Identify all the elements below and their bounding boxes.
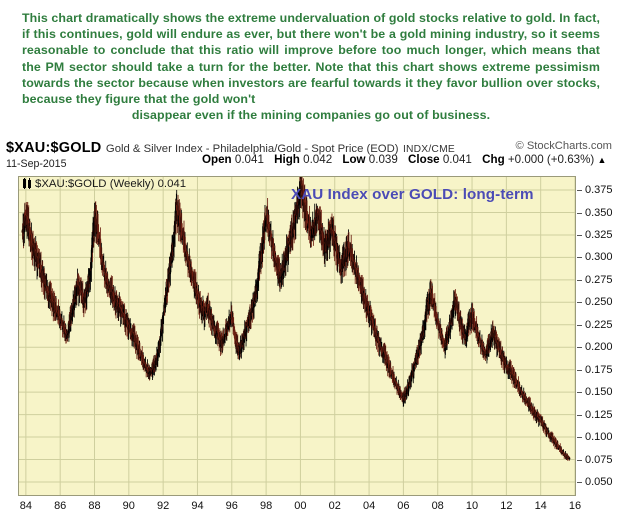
y-tick-label: 0.075 <box>585 454 613 466</box>
y-tick-label: 0.275 <box>585 274 613 286</box>
y-tick-label: 0.100 <box>585 431 613 443</box>
x-tick-label: 94 <box>191 500 203 512</box>
y-tick-label: 0.125 <box>585 409 613 421</box>
y-tick-label: 0.150 <box>585 386 613 398</box>
commentary-body: This chart dramatically shows the extrem… <box>22 11 600 106</box>
price-plot-area <box>18 176 576 496</box>
commentary-text: This chart dramatically shows the extrem… <box>22 10 600 123</box>
quote-date: 11-Sep-2015 <box>6 158 66 170</box>
commentary-last-line: disappear even if the mining companies g… <box>22 107 600 123</box>
x-tick-label: 90 <box>123 500 135 512</box>
x-tick-label: 02 <box>329 500 341 512</box>
y-tick-mark <box>577 437 582 438</box>
x-tick-label: 88 <box>88 500 100 512</box>
y-tick-label: 0.350 <box>585 207 613 219</box>
chg-label: Chg <box>482 153 505 166</box>
x-tick-label: 96 <box>226 500 238 512</box>
y-tick-mark <box>577 347 582 348</box>
chart-annotation-title: XAU Index over GOLD: long-term <box>291 186 534 203</box>
y-tick-label: 0.325 <box>585 229 613 241</box>
x-tick-label: 16 <box>569 500 581 512</box>
x-tick-label: 08 <box>432 500 444 512</box>
high-label: High <box>274 153 300 166</box>
y-tick-mark <box>577 257 582 258</box>
y-tick-mark <box>577 482 582 483</box>
y-tick-label: 0.250 <box>585 296 613 308</box>
ohlc-quote-row: Open 0.041 High 0.042 Low 0.039 Close 0.… <box>202 153 606 166</box>
y-tick-label: 0.225 <box>585 319 613 331</box>
series-label: $XAU:$GOLD (Weekly) 0.041 <box>22 178 186 190</box>
y-tick-mark <box>577 460 582 461</box>
open-label: Open <box>202 153 232 166</box>
y-tick-mark <box>577 392 582 393</box>
stockcharts-brand: © StockCharts.com <box>515 140 612 152</box>
candlestick-icon <box>22 178 32 189</box>
y-tick-mark <box>577 415 582 416</box>
low-label: Low <box>342 153 365 166</box>
open-value: 0.041 <box>235 153 264 166</box>
y-tick-mark <box>577 280 582 281</box>
y-tick-mark <box>577 213 582 214</box>
close-value: 0.041 <box>443 153 472 166</box>
series-label-text: $XAU:$GOLD (Weekly) 0.041 <box>35 178 186 190</box>
stockcharts-header: $XAU:$GOLD Gold & Silver Index - Philade… <box>0 139 620 171</box>
low-value: 0.039 <box>369 153 398 166</box>
x-tick-label: 04 <box>363 500 375 512</box>
x-tick-label: 84 <box>20 500 32 512</box>
x-tick-label: 86 <box>54 500 66 512</box>
x-tick-label: 10 <box>466 500 478 512</box>
y-tick-label: 0.300 <box>585 251 613 263</box>
y-tick-label: 0.375 <box>585 184 613 196</box>
header-row-quote: 11-Sep-2015 Open 0.041 High 0.042 Low 0.… <box>6 154 614 170</box>
y-tick-mark <box>577 325 582 326</box>
high-value: 0.042 <box>303 153 332 166</box>
y-tick-mark <box>577 190 582 191</box>
y-tick-mark <box>577 235 582 236</box>
x-tick-label: 14 <box>535 500 547 512</box>
y-tick-label: 0.200 <box>585 341 613 353</box>
chg-up-arrow-icon: ▲ <box>598 155 607 165</box>
y-tick-label: 0.050 <box>585 476 613 488</box>
y-axis: 0.3750.3500.3250.3000.2750.2500.2250.200… <box>577 176 620 496</box>
y-tick-mark <box>577 370 582 371</box>
x-tick-label: 92 <box>157 500 169 512</box>
x-tick-label: 98 <box>260 500 272 512</box>
chart-screenshot: This chart dramatically shows the extrem… <box>0 0 620 531</box>
y-tick-label: 0.175 <box>585 364 613 376</box>
x-tick-label: 12 <box>500 500 512 512</box>
x-axis: 8486889092949698000204060810121416 <box>18 497 576 517</box>
close-label: Close <box>408 153 440 166</box>
candlestick-canvas <box>19 177 575 495</box>
x-tick-label: 06 <box>397 500 409 512</box>
chg-value: +0.000 (+0.63%) <box>508 153 594 166</box>
y-tick-mark <box>577 302 582 303</box>
x-tick-label: 00 <box>294 500 306 512</box>
